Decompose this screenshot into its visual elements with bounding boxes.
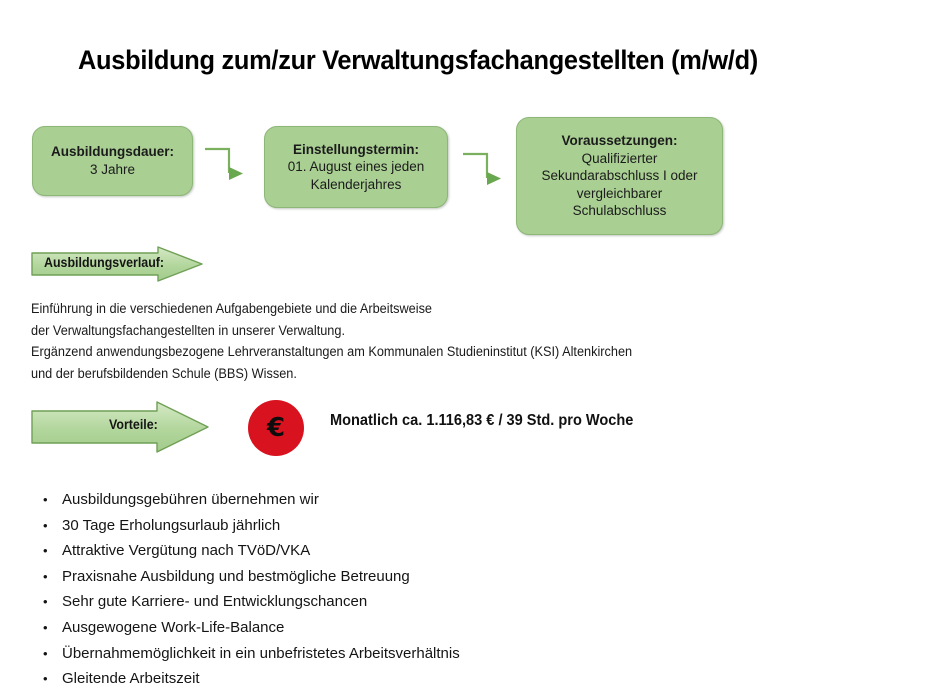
list-item: Übernahmemöglichkeit in ein unbefristete… [38, 641, 460, 667]
banner-label: Ausbildungsverlauf: [44, 255, 164, 270]
banner-label: Vorteile: [109, 417, 158, 432]
list-item: Ausgewogene Work-Life-Balance [38, 615, 460, 641]
flow-box-line: Ausbildungsdauer: [51, 143, 174, 161]
elbow-arrow-icon [203, 143, 259, 192]
flow-box-einstellungstermin: Einstellungstermin: 01. August eines jed… [264, 126, 448, 208]
description-line: und der berufsbildenden Schule (BBS) Wis… [31, 363, 632, 385]
salary-text: Monatlich ca. 1.116,83 € / 39 Std. pro W… [330, 412, 633, 430]
elbow-arrow-icon [461, 148, 517, 197]
flow-box-line: Sekundarabschluss I oder [541, 167, 697, 185]
flow-box-line: vergleichbarer [577, 185, 663, 203]
euro-circle-icon: € [248, 400, 304, 456]
description-line: Einführung in die verschiedenen Aufgaben… [31, 298, 632, 320]
description-line: der Verwaltungsfachangestellten in unser… [31, 320, 632, 342]
banner-arrow-ausbildungsverlauf: Ausbildungsverlauf: [31, 246, 203, 282]
flow-box-line: 01. August eines jeden [288, 158, 425, 176]
list-item: Attraktive Vergütung nach TVöD/VKA [38, 538, 460, 564]
list-item: Sehr gute Karriere- und Entwicklungschan… [38, 589, 460, 615]
euro-glyph: € [267, 415, 285, 441]
list-item: Praxisnahe Ausbildung und bestmögliche B… [38, 564, 460, 590]
benefits-list: Ausbildungsgebühren übernehmen wir 30 Ta… [38, 487, 460, 692]
flow-box-line: Schulabschluss [573, 202, 667, 220]
flow-box-line: Voraussetzungen: [561, 132, 677, 150]
flow-box-line: Qualifizierter [582, 150, 658, 168]
list-item: Gleitende Arbeitszeit [38, 666, 460, 692]
description-line: Ergänzend anwendungsbezogene Lehrveranst… [31, 341, 632, 363]
flow-box-line: 3 Jahre [90, 161, 135, 179]
flow-box-line: Einstellungstermin: [293, 141, 419, 159]
list-item: 30 Tage Erholungsurlaub jährlich [38, 513, 460, 539]
flow-box-line: Kalenderjahres [311, 176, 402, 194]
flow-box-voraussetzungen: Voraussetzungen: Qualifizierter Sekundar… [516, 117, 723, 235]
flow-box-ausbildungsdauer: Ausbildungsdauer: 3 Jahre [32, 126, 193, 196]
course-description: Einführung in die verschiedenen Aufgaben… [31, 298, 632, 384]
banner-arrow-vorteile: Vorteile: [31, 401, 209, 453]
page-title: Ausbildung zum/zur Verwaltungsfachangest… [78, 45, 758, 76]
list-item: Ausbildungsgebühren übernehmen wir [38, 487, 460, 513]
